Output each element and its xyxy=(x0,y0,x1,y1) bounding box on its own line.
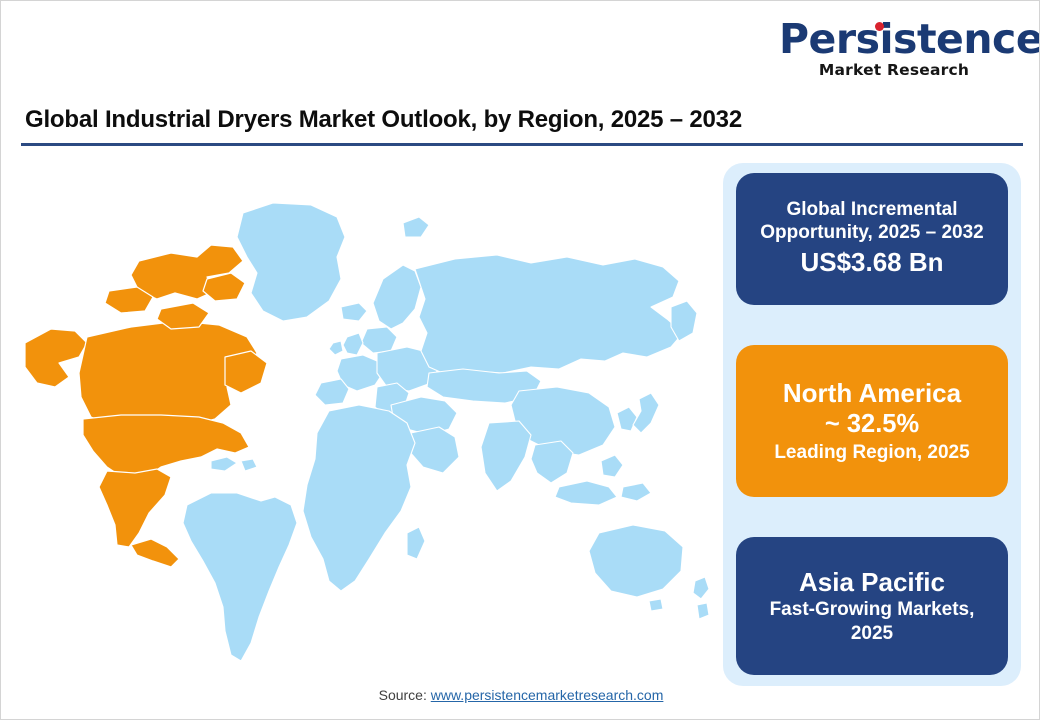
page-title: Global Industrial Dryers Market Outlook,… xyxy=(25,106,985,134)
company-logo: Persistence Market Research xyxy=(779,19,1009,79)
growth-region-name: Asia Pacific xyxy=(799,567,945,598)
leading-region-caption: Leading Region, 2025 xyxy=(774,441,969,464)
infographic-page: Persistence Market Research Global Indus… xyxy=(0,0,1040,720)
world-map xyxy=(11,161,711,671)
growth-region-caption-line1: Fast-Growing Markets, xyxy=(770,598,975,621)
title-divider xyxy=(21,143,1023,146)
source-line: Source: www.persistencemarketresearch.co… xyxy=(1,687,1040,703)
leading-region-share: ~ 32.5% xyxy=(825,409,919,440)
logo-wordmark-text: Persistence xyxy=(779,15,1040,63)
logo-subtitle: Market Research xyxy=(779,63,1009,79)
stat-card-global-opportunity: Global Incremental Opportunity, 2025 – 2… xyxy=(736,173,1008,305)
logo-wordmark: Persistence xyxy=(779,19,1040,60)
stats-panel: Global Incremental Opportunity, 2025 – 2… xyxy=(723,163,1021,686)
source-url-link[interactable]: www.persistencemarketresearch.com xyxy=(431,687,664,703)
source-label: Source: xyxy=(379,687,431,703)
stat-card-leading-region: North America ~ 32.5% Leading Region, 20… xyxy=(736,345,1008,497)
opportunity-label-line2: Opportunity, 2025 – 2032 xyxy=(760,221,984,244)
map-base-regions xyxy=(183,203,709,661)
world-map-svg xyxy=(11,161,711,671)
opportunity-value: US$3.68 Bn xyxy=(800,246,943,280)
stat-card-fast-growing-region: Asia Pacific Fast-Growing Markets, 2025 xyxy=(736,537,1008,675)
growth-region-caption-line2: 2025 xyxy=(851,622,893,645)
logo-dot-icon xyxy=(875,22,884,31)
opportunity-label-line1: Global Incremental xyxy=(786,198,957,221)
leading-region-name: North America xyxy=(783,378,961,409)
